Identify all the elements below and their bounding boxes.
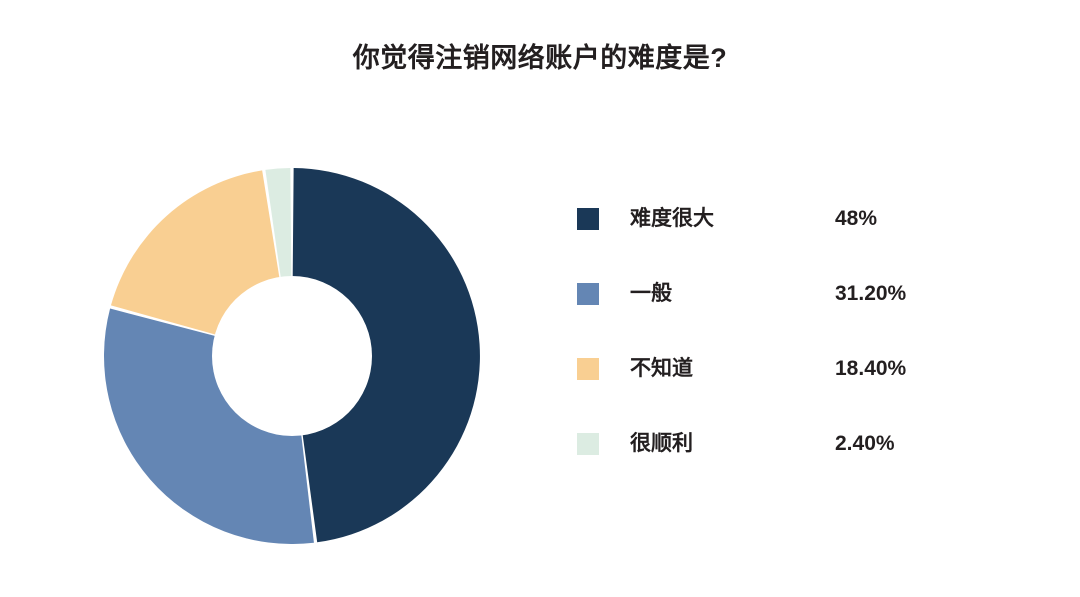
donut-svg xyxy=(104,168,480,544)
legend-value-3: 2.40% xyxy=(835,429,895,459)
legend-value-1: 31.20% xyxy=(835,279,906,309)
legend-item-1[interactable]: 一般 31.20% xyxy=(577,283,977,358)
legend-swatch-navy xyxy=(577,208,599,230)
legend-value-0: 48% xyxy=(835,204,877,234)
legend-swatch-blue xyxy=(577,283,599,305)
legend-item-2[interactable]: 不知道 18.40% xyxy=(577,358,977,433)
legend-item-3[interactable]: 很顺利 2.40% xyxy=(577,433,977,508)
chart-title: 你觉得注销网络账户的难度是? xyxy=(0,40,1080,76)
legend-label-2: 不知道 xyxy=(630,354,693,384)
legend-value-2: 18.40% xyxy=(835,354,906,384)
legend-swatch-orange xyxy=(577,358,599,380)
legend-swatch-mint xyxy=(577,433,599,455)
donut-chart-graphic xyxy=(104,168,480,544)
donut-center-hole xyxy=(212,276,372,436)
legend-item-0[interactable]: 难度很大 48% xyxy=(577,208,977,283)
legend-label-1: 一般 xyxy=(630,279,672,309)
chart-legend: 难度很大 48% 一般 31.20% 不知道 18.40% 很顺利 2.40% xyxy=(577,208,977,508)
legend-label-0: 难度很大 xyxy=(630,204,714,234)
legend-label-3: 很顺利 xyxy=(630,429,693,459)
donut-chart-figure: 你觉得注销网络账户的难度是? 难度很大 48% 一般 31.20% 不知道 18… xyxy=(0,0,1080,597)
